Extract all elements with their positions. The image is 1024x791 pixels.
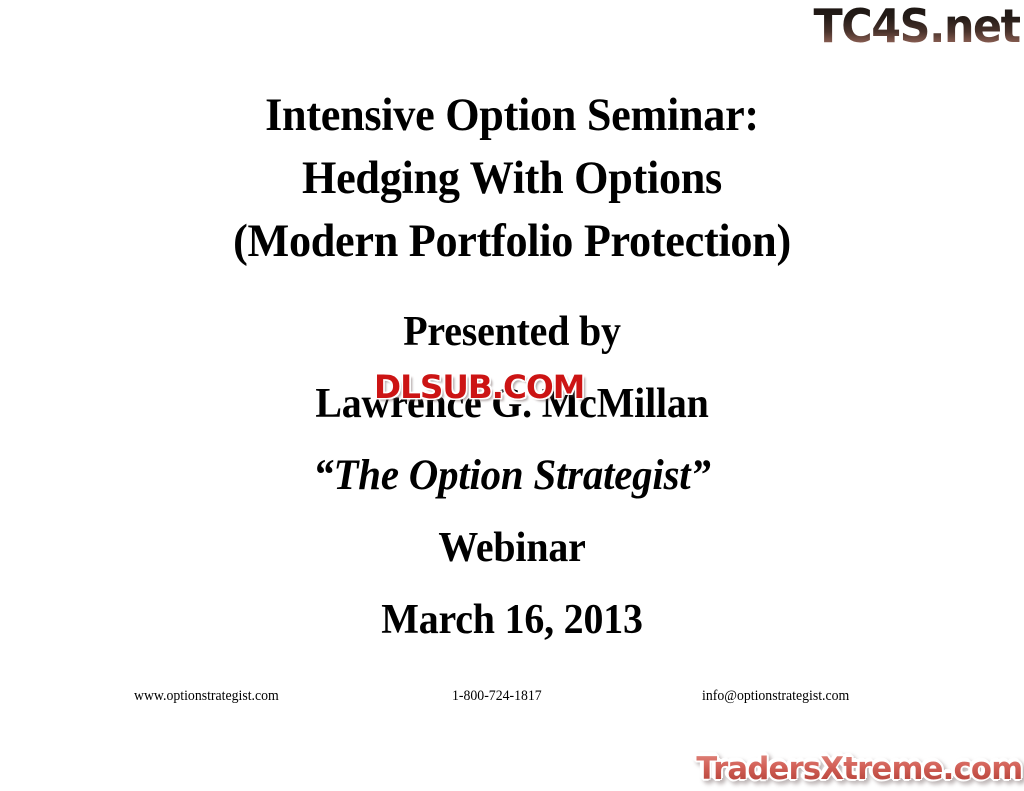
title-line-3: (Modern Portfolio Protection) bbox=[31, 210, 994, 273]
title-line-2: Hedging With Options bbox=[31, 147, 994, 210]
presentation-slide: TC4S.net Intensive Option Seminar: Hedgi… bbox=[0, 0, 1024, 791]
slide-footer: www.optionstrategist.com 1-800-724-1817 … bbox=[0, 688, 1024, 710]
event-date: March 16, 2013 bbox=[26, 584, 999, 656]
watermark-dlsub-com: DLSUB.COM bbox=[374, 370, 584, 404]
slide-body-block: Presented by Lawrence G. McMillan “The O… bbox=[0, 296, 1024, 656]
watermark-tc4s-net: TC4S.net bbox=[814, 2, 1020, 50]
presented-by-label: Presented by bbox=[26, 296, 999, 368]
footer-website: www.optionstrategist.com bbox=[134, 688, 279, 705]
slide-title-block: Intensive Option Seminar: Hedging With O… bbox=[0, 84, 1024, 273]
footer-email: info@optionstrategist.com bbox=[702, 688, 849, 705]
presenter-nickname: “The Option Strategist” bbox=[26, 440, 999, 512]
title-line-1: Intensive Option Seminar: bbox=[31, 84, 994, 147]
event-type: Webinar bbox=[26, 512, 999, 584]
watermark-tradersxtreme-com: TradersXtreme.com bbox=[696, 751, 1022, 787]
footer-phone: 1-800-724-1817 bbox=[452, 688, 542, 705]
